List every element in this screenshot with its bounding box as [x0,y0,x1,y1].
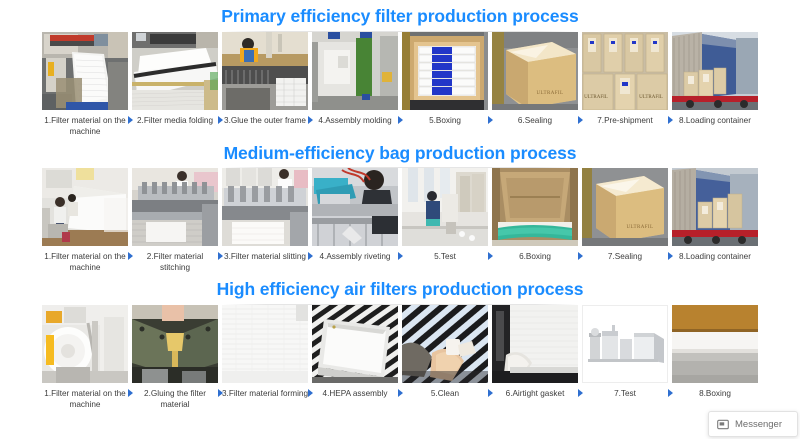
process-step-cell[interactable] [222,32,308,110]
step-caption: 6.Airtight gasket [492,387,578,399]
step-caption-text: 8.Loading container [679,116,751,125]
step-caption: 7.Test [582,387,668,399]
step-caption-text: 3.Filter material slitting [224,252,306,261]
step-caption-text: 2.Gluing the filter material [144,389,206,409]
process-step-cell[interactable] [312,305,398,383]
filter-material-stitching-photo[interactable] [132,168,218,246]
process-step-cell[interactable] [312,168,398,246]
messenger-label: Messenger [735,419,782,430]
filter-material-roll-photo[interactable] [42,305,128,383]
step-caption: 8.Loading container [672,250,758,262]
step-caption: 6.Boxing [492,250,578,262]
step-caption: 2.Filter media folding [132,114,218,126]
step-caption-text: 2.Filter media folding [137,116,213,125]
messenger-widget[interactable]: Messenger [708,411,798,437]
step-caption-text: 5.Boxing [429,116,461,125]
process-step-cell[interactable]: ULTRAFIL ULTRAFIL [582,32,668,110]
step-caption: 3.Glue the outer frame [222,114,308,126]
step-caption: 2.Filter material stitching [132,250,218,273]
svg-text:ULTRAFIL: ULTRAFIL [639,95,663,100]
messenger-icon [717,418,729,430]
process-step-cell[interactable] [42,168,128,246]
step-caption-text: 6.Boxing [519,252,551,261]
process-step-cell[interactable] [402,168,488,246]
process-section-high: High efficiency air filters production p… [0,273,800,410]
step-caption-text: 1.Filter material on the machine [44,389,125,409]
sealing-photo[interactable]: ULTRAFIL [582,168,668,246]
step-caption: 1.Filter material on the machine [42,114,128,137]
step-caption-text: 6.Sealing [518,116,552,125]
step-caption: 8.Boxing [672,387,758,399]
clean-photo[interactable] [402,305,488,383]
glue-outer-frame-photo[interactable] [222,32,308,110]
process-section-medium: Medium-efficiency bag production process [0,137,800,274]
process-step-cell[interactable] [672,32,758,110]
step-caption: 3.Filter material slitting [222,250,308,262]
step-caption-text: 8.Loading container [679,252,751,261]
loading-container-photo[interactable] [672,168,758,246]
process-section-primary: Primary efficiency filter production pro… [0,0,800,137]
step-caption-text: 3.Glue the outer frame [224,116,306,125]
step-caption: 5.Test [402,250,488,262]
process-step-cell[interactable] [42,32,128,110]
process-step-cell[interactable] [672,168,758,246]
svg-text:ULTRAFIL: ULTRAFIL [584,95,608,100]
process-step-cell[interactable]: ULTRAFIL [492,32,578,110]
section-title-high: High efficiency air filters production p… [0,273,800,304]
step-caption-text: 4.Assembly molding [318,116,391,125]
step-caption-text: 1.Filter material on the machine [44,116,125,136]
section-title-primary: Primary efficiency filter production pro… [0,0,800,31]
boxing-photo[interactable] [402,32,488,110]
step-caption-text: 6.Airtight gasket [506,389,565,398]
process-step-cell[interactable] [402,32,488,110]
step-caption-text: 4.HEPA assembly [323,389,388,398]
boxing-photo[interactable] [492,168,578,246]
process-step-cell[interactable] [492,305,578,383]
gluing-filter-material-photo[interactable] [132,305,218,383]
product-process-page: Primary efficiency filter production pro… [0,0,800,439]
section-title-medium: Medium-efficiency bag production process [0,137,800,168]
step-caption: 1.Filter material on the machine [42,250,128,273]
boxing-flat-photo[interactable] [672,305,758,383]
hepa-assembly-photo[interactable] [312,305,398,383]
thumbnail-row-primary: ULTRAFIL [0,32,800,110]
step-caption: 5.Clean [402,387,488,399]
caption-row-primary: 1.Filter material on the machine 2.Filte… [0,110,800,137]
step-caption: 1.Filter material on the machine [42,387,128,410]
process-step-cell[interactable] [132,168,218,246]
filter-material-on-machine-photo[interactable] [42,32,128,110]
process-step-cell[interactable] [582,305,668,383]
assembly-molding-photo[interactable] [312,32,398,110]
step-caption-text: 7.Pre-shipment [597,116,653,125]
process-step-cell[interactable] [42,305,128,383]
filter-material-forming-photo[interactable] [222,305,308,383]
airtight-gasket-photo[interactable] [492,305,578,383]
step-caption: 3.Filter material forming [222,387,308,399]
step-caption: 7.Pre-shipment [582,114,668,126]
process-step-cell[interactable]: ULTRAFIL [582,168,668,246]
step-caption-text: 7.Sealing [608,252,642,261]
process-step-cell[interactable] [132,305,218,383]
svg-text:ULTRAFIL: ULTRAFIL [537,91,564,96]
test-equipment-photo[interactable] [582,305,668,383]
process-step-cell[interactable] [492,168,578,246]
assembly-riveting-photo[interactable] [312,168,398,246]
filter-material-slitting-photo[interactable] [222,168,308,246]
process-step-cell[interactable] [222,168,308,246]
step-caption: 4.Assembly riveting [312,250,398,262]
step-caption-text: 5.Test [434,252,456,261]
step-caption: 6.Sealing [492,114,578,126]
step-caption: 4.HEPA assembly [312,387,398,399]
svg-text:ULTRAFIL: ULTRAFIL [627,225,654,230]
caption-row-medium: 1.Filter material on the machine 2.Filte… [0,246,800,273]
process-step-cell[interactable] [132,32,218,110]
filter-material-on-machine-photo[interactable] [42,168,128,246]
sealing-photo[interactable]: ULTRAFIL [492,32,578,110]
step-caption-text: 7.Test [614,389,636,398]
process-step-cell[interactable] [672,305,758,383]
test-photo[interactable] [402,168,488,246]
step-caption-text: 2.Filter material stitching [147,252,203,272]
loading-container-photo[interactable] [672,32,758,110]
step-caption: 5.Boxing [402,114,488,126]
process-step-cell[interactable] [222,305,308,383]
step-caption-text: 1.Filter material on the machine [44,252,125,272]
step-caption: 4.Assembly molding [312,114,398,126]
step-caption: 2.Gluing the filter material [132,387,218,410]
step-caption: 8.Loading container [672,114,758,126]
process-step-cell[interactable] [402,305,488,383]
step-caption-text: 3.Filter material forming [222,389,308,398]
pre-shipment-photo[interactable]: ULTRAFIL ULTRAFIL [582,32,668,110]
step-caption-text: 8.Boxing [699,389,731,398]
filter-media-folding-photo[interactable] [132,32,218,110]
step-caption-text: 5.Clean [431,389,459,398]
thumbnail-row-high [0,305,800,383]
caption-row-high: 1.Filter material on the machine 2.Gluin… [0,383,800,410]
step-caption: 7.Sealing [582,250,668,262]
thumbnail-row-medium: ULTRAFIL [0,168,800,246]
process-step-cell[interactable] [312,32,398,110]
step-caption-text: 4.Assembly riveting [320,252,391,261]
